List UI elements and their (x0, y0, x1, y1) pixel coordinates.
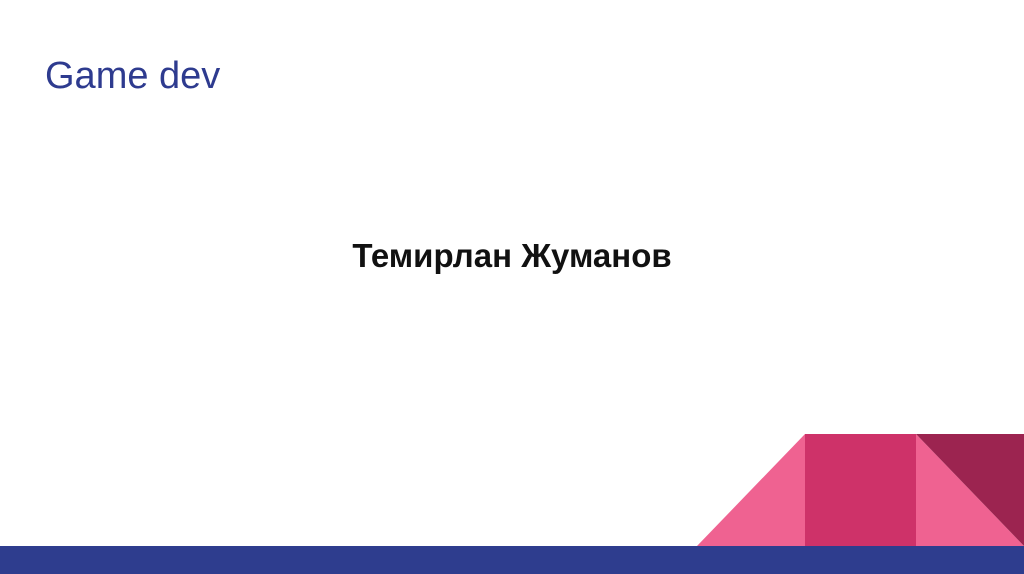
presentation-slide: Game dev Темирлан Жуманов (0, 0, 1024, 574)
bottom-navy-band (0, 546, 1024, 574)
slide-body: Темирлан Жуманов (0, 236, 1024, 276)
page-title: Game dev (45, 56, 220, 98)
left-pink-triangle (697, 434, 805, 546)
bottom-right-triangle-cluster (680, 434, 1024, 546)
center-magenta-block (805, 434, 916, 546)
author-name: Темирлан Жуманов (352, 236, 671, 276)
